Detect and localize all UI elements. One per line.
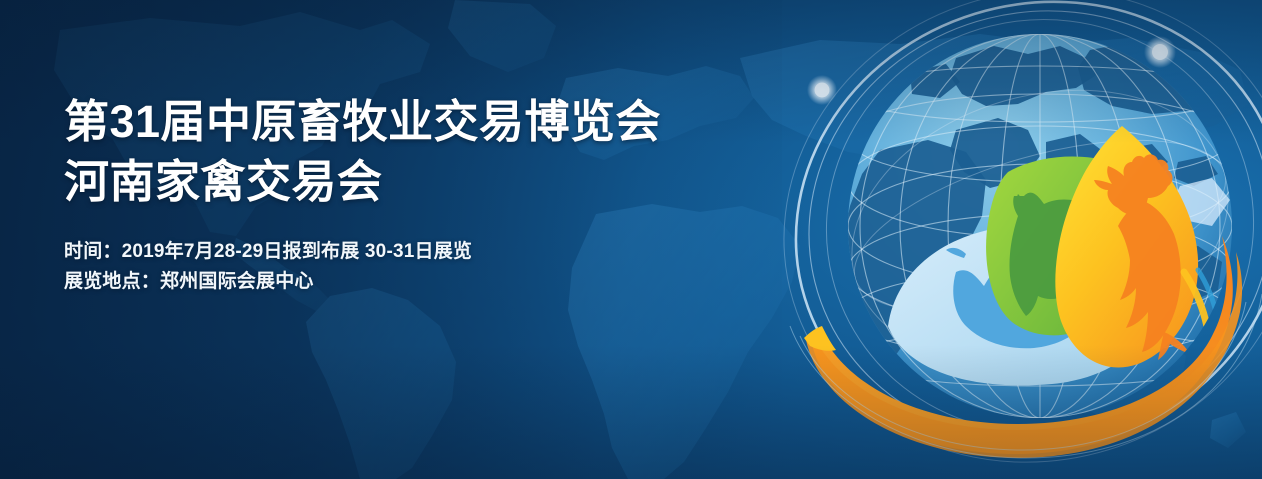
accent-streaks xyxy=(1184,270,1220,368)
pig-silhouette xyxy=(1009,193,1106,320)
yellow-leaf-rooster xyxy=(1055,126,1198,367)
event-title-line-1: 第31届中原畜牧业交易博览会 xyxy=(64,92,784,152)
banner-text-block: 第31届中原畜牧业交易博览会 河南家禽交易会 时间：2019年7月28-29日报… xyxy=(64,92,784,297)
rooster-silhouette xyxy=(1094,154,1190,360)
globe-continents xyxy=(842,40,1224,378)
event-time-line: 时间：2019年7月28-29日报到布展 30-31日展览 xyxy=(64,237,784,267)
globe-grid xyxy=(848,34,1232,418)
orbit-ring xyxy=(725,0,1262,479)
blue-leaf-cow xyxy=(888,225,1148,385)
globe-livestock-logo xyxy=(760,0,1262,479)
globe-sphere xyxy=(848,34,1232,418)
event-banner: 第31届中原畜牧业交易博览会 河南家禽交易会 时间：2019年7月28-29日报… xyxy=(0,0,1262,479)
orbit-node-left xyxy=(807,75,837,105)
event-title-line-2: 河南家禽交易会 xyxy=(64,152,784,212)
event-details: 时间：2019年7月28-29日报到布展 30-31日展览 展览地点：郑州国际会… xyxy=(64,237,784,297)
orbit-node-right xyxy=(1144,36,1176,68)
event-venue-line: 展览地点：郑州国际会展中心 xyxy=(64,267,784,297)
green-leaf-pig xyxy=(986,157,1112,336)
cow-silhouette xyxy=(946,236,1120,348)
orange-swoosh-arc xyxy=(804,236,1242,458)
